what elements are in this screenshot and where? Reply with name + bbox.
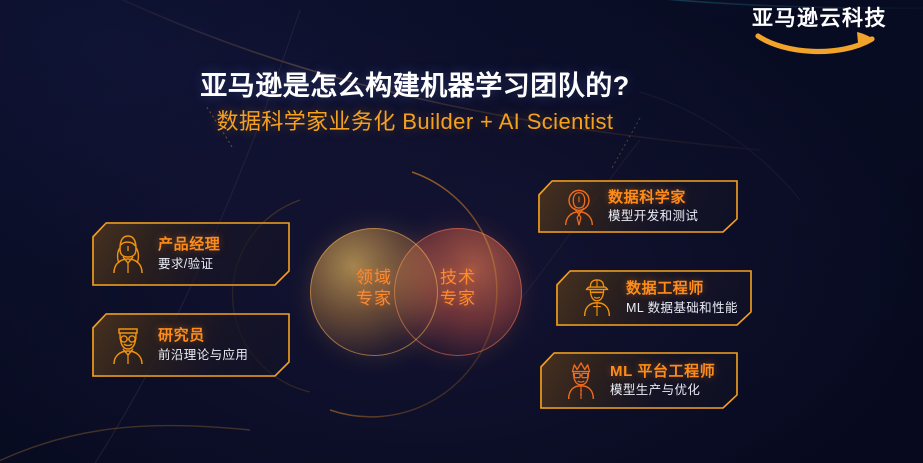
role-card-ml-platform-engineer[interactable]: ML 平台工程师 模型生产与优化 bbox=[540, 352, 738, 409]
slide-canvas: 亚马逊云科技 亚马逊是怎么构建机器学习团队的? 数据科学家业务化 Builder… bbox=[0, 0, 923, 463]
amazon-smile-arrow-icon bbox=[754, 30, 894, 58]
venn-label-tech-line2: 专家 bbox=[423, 289, 493, 310]
card-text: 数据科学家 模型开发和测试 bbox=[608, 188, 698, 225]
card-title: 产品经理 bbox=[158, 235, 220, 255]
role-card-data-scientist[interactable]: 数据科学家 模型开发和测试 bbox=[538, 180, 738, 233]
card-text: 产品经理 要求/验证 bbox=[158, 235, 220, 272]
card-subtitle: ML 数据基础和性能 bbox=[626, 300, 738, 317]
person-spiky-hair-glasses-icon bbox=[562, 360, 600, 402]
role-card-data-engineer[interactable]: 数据工程师 ML 数据基础和性能 bbox=[556, 270, 752, 326]
page-subtitle: 数据科学家业务化 Builder + AI Scientist bbox=[0, 108, 830, 136]
role-card-product-manager[interactable]: 产品经理 要求/验证 bbox=[92, 222, 290, 286]
title-block: 亚马逊是怎么构建机器学习团队的? 数据科学家业务化 Builder + AI S… bbox=[0, 70, 830, 135]
venn-label-tech-line1: 技术 bbox=[423, 268, 493, 289]
logo-text: 亚马逊云科技 bbox=[752, 8, 912, 29]
role-card-researcher[interactable]: 研究员 前沿理论与应用 bbox=[92, 313, 290, 377]
aws-china-logo: 亚马逊云科技 bbox=[752, 8, 912, 60]
card-title: 数据科学家 bbox=[608, 188, 698, 208]
venn-label-tech-expert: 技术 专家 bbox=[423, 268, 493, 309]
card-text: 数据工程师 ML 数据基础和性能 bbox=[626, 279, 738, 316]
venn-label-domain-line2: 专家 bbox=[339, 289, 409, 310]
person-round-hair-tie-icon bbox=[560, 186, 598, 228]
person-long-hair-icon bbox=[108, 232, 148, 276]
card-title: 研究员 bbox=[158, 326, 248, 346]
venn-label-domain-expert: 领域 专家 bbox=[339, 268, 409, 309]
venn-diagram: 领域 专家 技术 专家 bbox=[310, 228, 522, 356]
card-subtitle: 模型开发和测试 bbox=[608, 208, 698, 225]
card-title: 数据工程师 bbox=[626, 279, 738, 299]
venn-label-domain-line1: 领域 bbox=[339, 268, 409, 289]
page-title: 亚马逊是怎么构建机器学习团队的? bbox=[0, 70, 830, 103]
card-subtitle: 要求/验证 bbox=[158, 256, 220, 273]
person-glasses-cap-icon bbox=[108, 323, 148, 367]
card-text: 研究员 前沿理论与应用 bbox=[158, 326, 248, 363]
card-title: ML 平台工程师 bbox=[610, 362, 715, 382]
card-subtitle: 前沿理论与应用 bbox=[158, 347, 248, 364]
card-text: ML 平台工程师 模型生产与优化 bbox=[610, 362, 715, 399]
person-hardhat-icon bbox=[578, 277, 616, 319]
card-subtitle: 模型生产与优化 bbox=[610, 382, 715, 399]
